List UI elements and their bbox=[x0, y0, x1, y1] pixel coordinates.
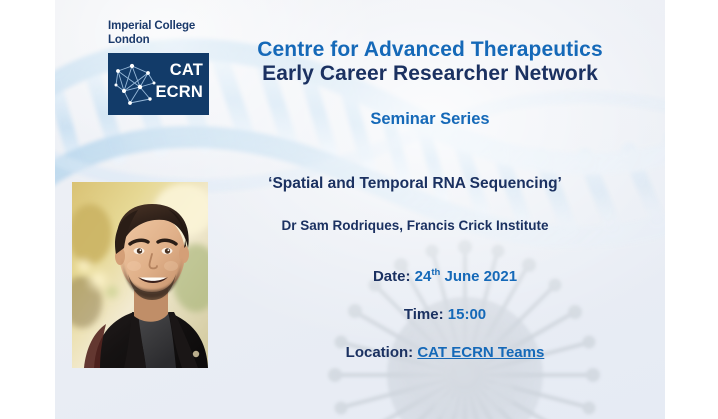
location-label: Location: bbox=[346, 344, 414, 361]
date-row: Date: 24th June 2021 bbox=[230, 268, 660, 285]
seminar-poster: Imperial College London bbox=[0, 0, 718, 419]
cat-ecrn-badge-text: CAT ECRN bbox=[155, 60, 203, 104]
cat-ecrn-logo-badge: CAT ECRN bbox=[108, 53, 209, 115]
time-row: Time: 15:00 bbox=[230, 306, 660, 323]
speaker-portrait-photo bbox=[72, 182, 208, 368]
date-day-suffix: th bbox=[431, 267, 440, 278]
page-title-line1: Centre for Advanced Therapeutics bbox=[205, 38, 655, 62]
speaker-name-affiliation: Dr Sam Rodriques, Francis Crick Institut… bbox=[175, 218, 655, 233]
page-title-line2: Early Career Researcher Network bbox=[205, 62, 655, 86]
talk-title: ‘Spatial and Temporal RNA Sequencing’ bbox=[175, 175, 655, 193]
teams-meeting-link[interactable]: CAT ECRN Teams bbox=[417, 344, 544, 361]
seminar-series-subtitle: Seminar Series bbox=[205, 110, 655, 129]
time-value: 15:00 bbox=[448, 306, 486, 323]
date-label: Date: bbox=[373, 268, 411, 285]
location-row: Location: CAT ECRN Teams bbox=[230, 344, 660, 361]
date-month-year: June 2021 bbox=[444, 268, 517, 285]
time-label: Time: bbox=[404, 306, 444, 323]
date-day: 24 bbox=[415, 268, 432, 285]
slide-canvas: Imperial College London bbox=[55, 0, 665, 419]
